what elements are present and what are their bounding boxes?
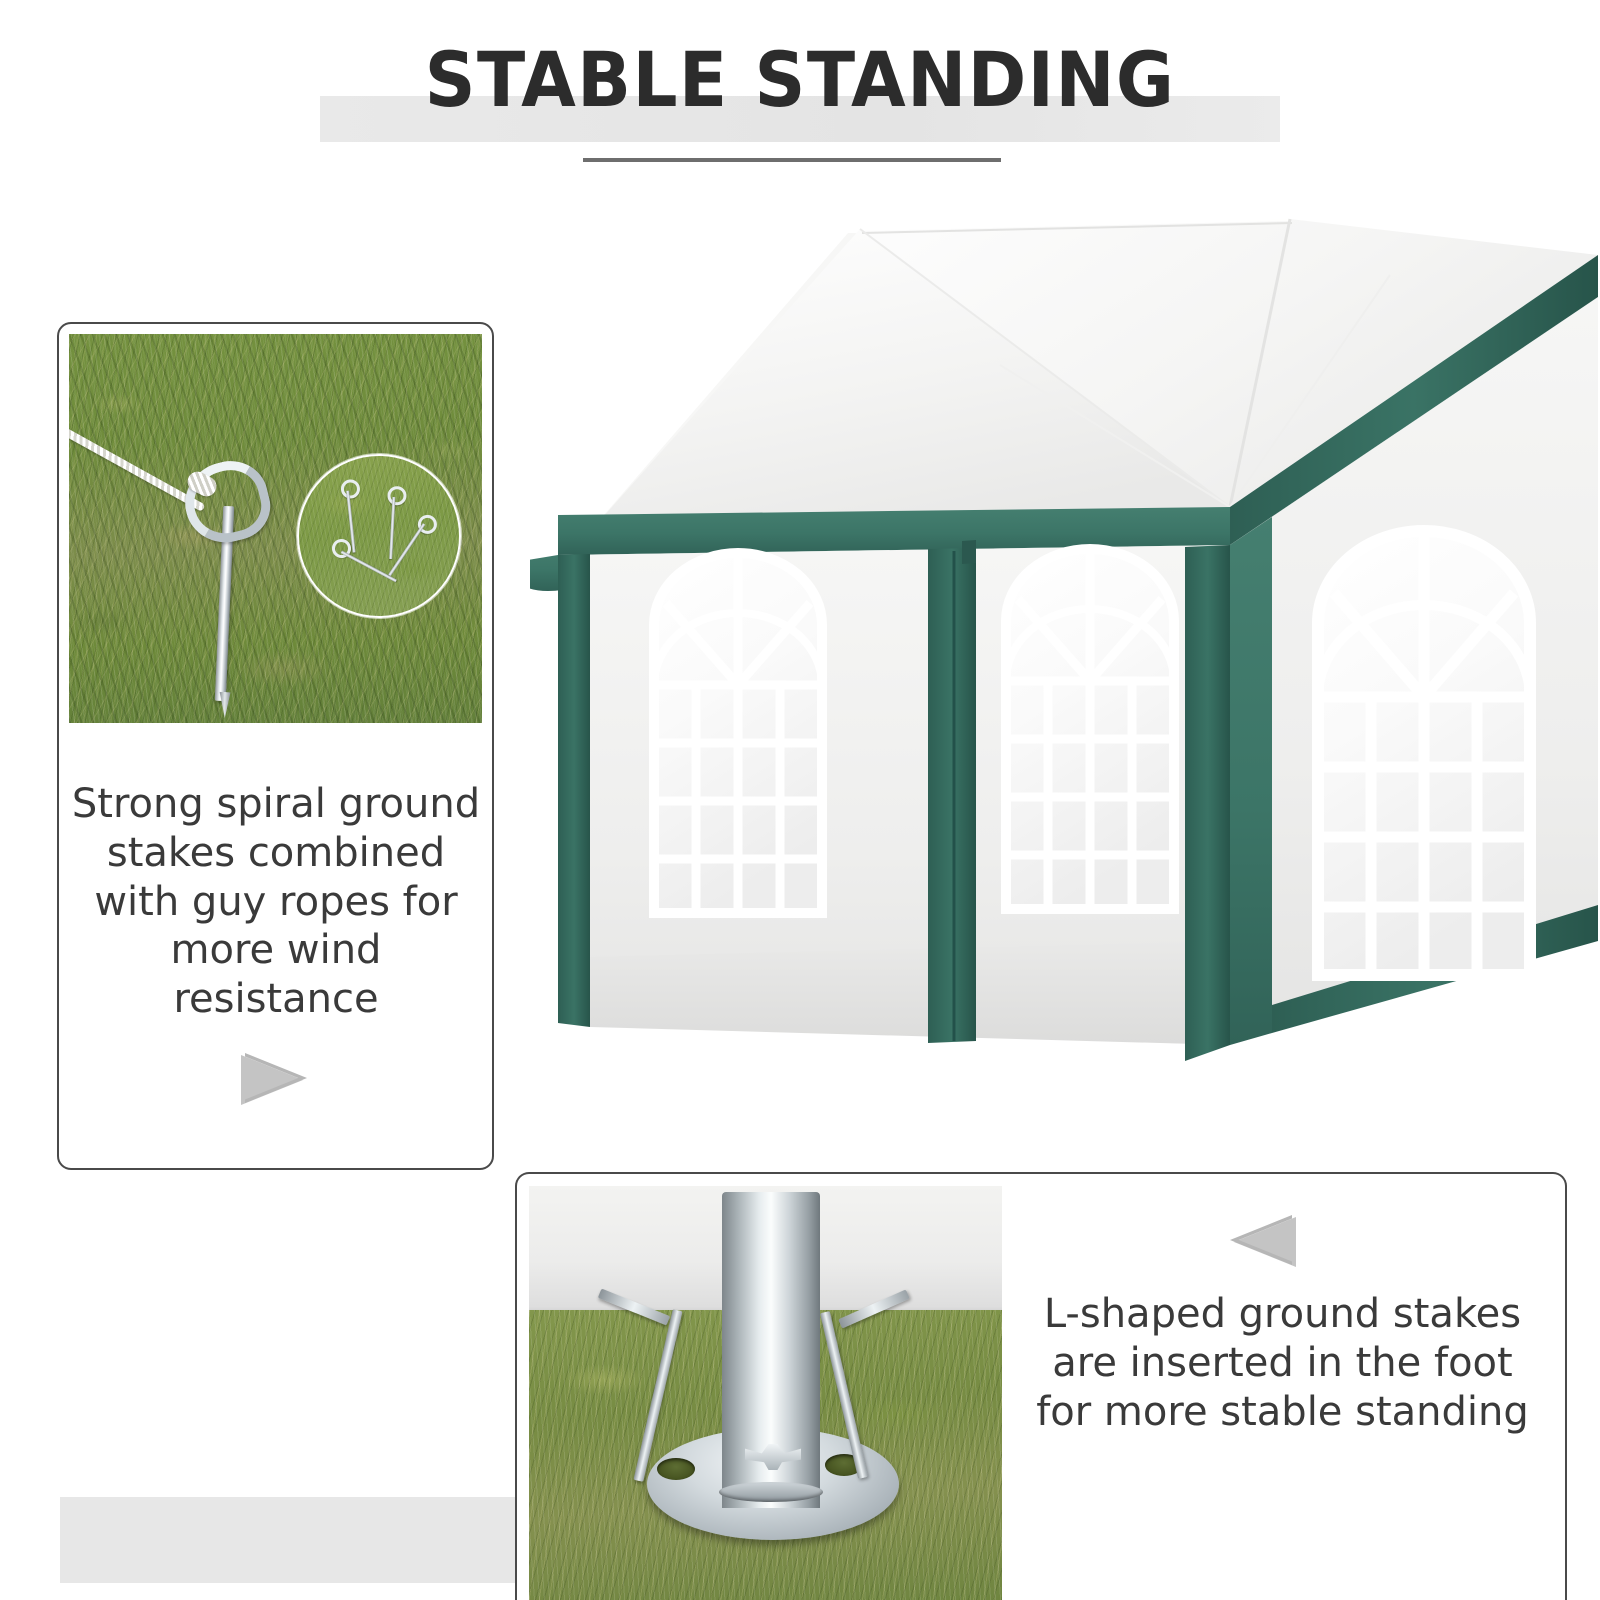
- feature-card-spiral-stake: [57, 322, 494, 1170]
- spiral-stake-photo: [69, 334, 482, 723]
- pole-weld-ring: [719, 1482, 823, 1502]
- stake-rod: [389, 497, 395, 559]
- spiral-stake-caption: Strong spiral ground stakes combined wit…: [70, 780, 482, 1024]
- base-plate-hole: [657, 1458, 695, 1480]
- page-title: STABLE STANDING: [56, 42, 1544, 118]
- stake-rod: [388, 523, 425, 576]
- pole-foot-photo: [529, 1186, 1002, 1600]
- stake-closeup-inset: [297, 454, 461, 618]
- bottom-decor-band: [60, 1497, 540, 1583]
- stake-ring-icon: [387, 486, 407, 506]
- header: STABLE STANDING: [0, 0, 1600, 190]
- title-divider-rule: [583, 158, 1001, 162]
- party-tent-illustration: [530, 215, 1600, 1105]
- play-left-icon: [1230, 1215, 1292, 1265]
- play-right-icon: [245, 1053, 307, 1103]
- l-stake-caption: L-shaped ground stakes are inserted in t…: [1035, 1290, 1530, 1436]
- stake-ring-icon: [340, 479, 361, 500]
